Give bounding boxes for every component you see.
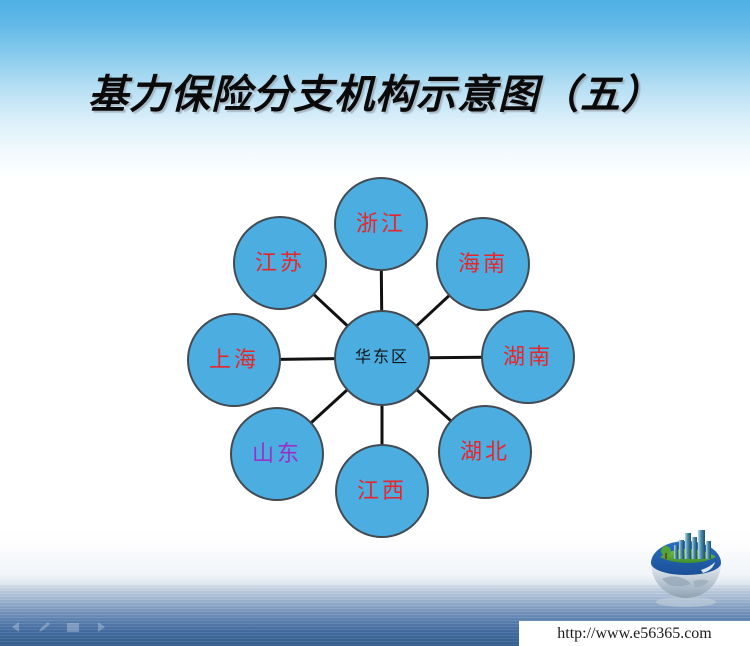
presentation-slide: 基力保险分支机构示意图（五） 华东区浙江江苏上海山东江西湖北湖南海南 xyxy=(0,0,750,646)
diagram-edge xyxy=(416,295,450,327)
diagram-node-branch[interactable]: 山东 xyxy=(230,407,324,501)
url-text: http://www.e56365.com xyxy=(557,625,712,643)
diagram-node-branch[interactable]: 湖北 xyxy=(438,405,532,499)
next-slide-icon[interactable] xyxy=(92,620,110,634)
globe-city-logo xyxy=(638,523,734,609)
node-label: 上海 xyxy=(209,349,259,371)
node-label: 华东区 xyxy=(355,350,409,366)
diagram-edge xyxy=(416,389,452,422)
diagram-edge xyxy=(310,389,348,424)
node-label: 浙江 xyxy=(356,213,406,235)
diagram-node-branch[interactable]: 海南 xyxy=(436,217,530,311)
slideshow-nav-controls[interactable] xyxy=(8,620,110,634)
node-label: 江苏 xyxy=(255,252,305,274)
diagram-edge xyxy=(279,359,336,360)
node-label: 山东 xyxy=(252,443,302,465)
diagram-edge xyxy=(313,294,348,327)
node-label: 湖南 xyxy=(503,346,553,368)
node-label: 江西 xyxy=(357,480,407,502)
slide-menu-icon[interactable] xyxy=(64,620,82,634)
diagram-node-branch[interactable]: 上海 xyxy=(187,313,281,407)
diagram-node-branch[interactable]: 湖南 xyxy=(481,310,575,404)
previous-slide-icon[interactable] xyxy=(8,620,26,634)
url-watermark: http://www.e56365.com xyxy=(519,621,750,646)
diagram-node-branch[interactable]: 江苏 xyxy=(233,216,327,310)
diagram-node-center[interactable]: 华东区 xyxy=(334,310,430,406)
pen-annotate-icon[interactable] xyxy=(36,620,54,634)
node-label: 湖北 xyxy=(460,441,510,463)
node-label: 海南 xyxy=(458,253,508,275)
diagram-node-branch[interactable]: 江西 xyxy=(335,444,429,538)
diagram-node-branch[interactable]: 浙江 xyxy=(334,177,428,271)
